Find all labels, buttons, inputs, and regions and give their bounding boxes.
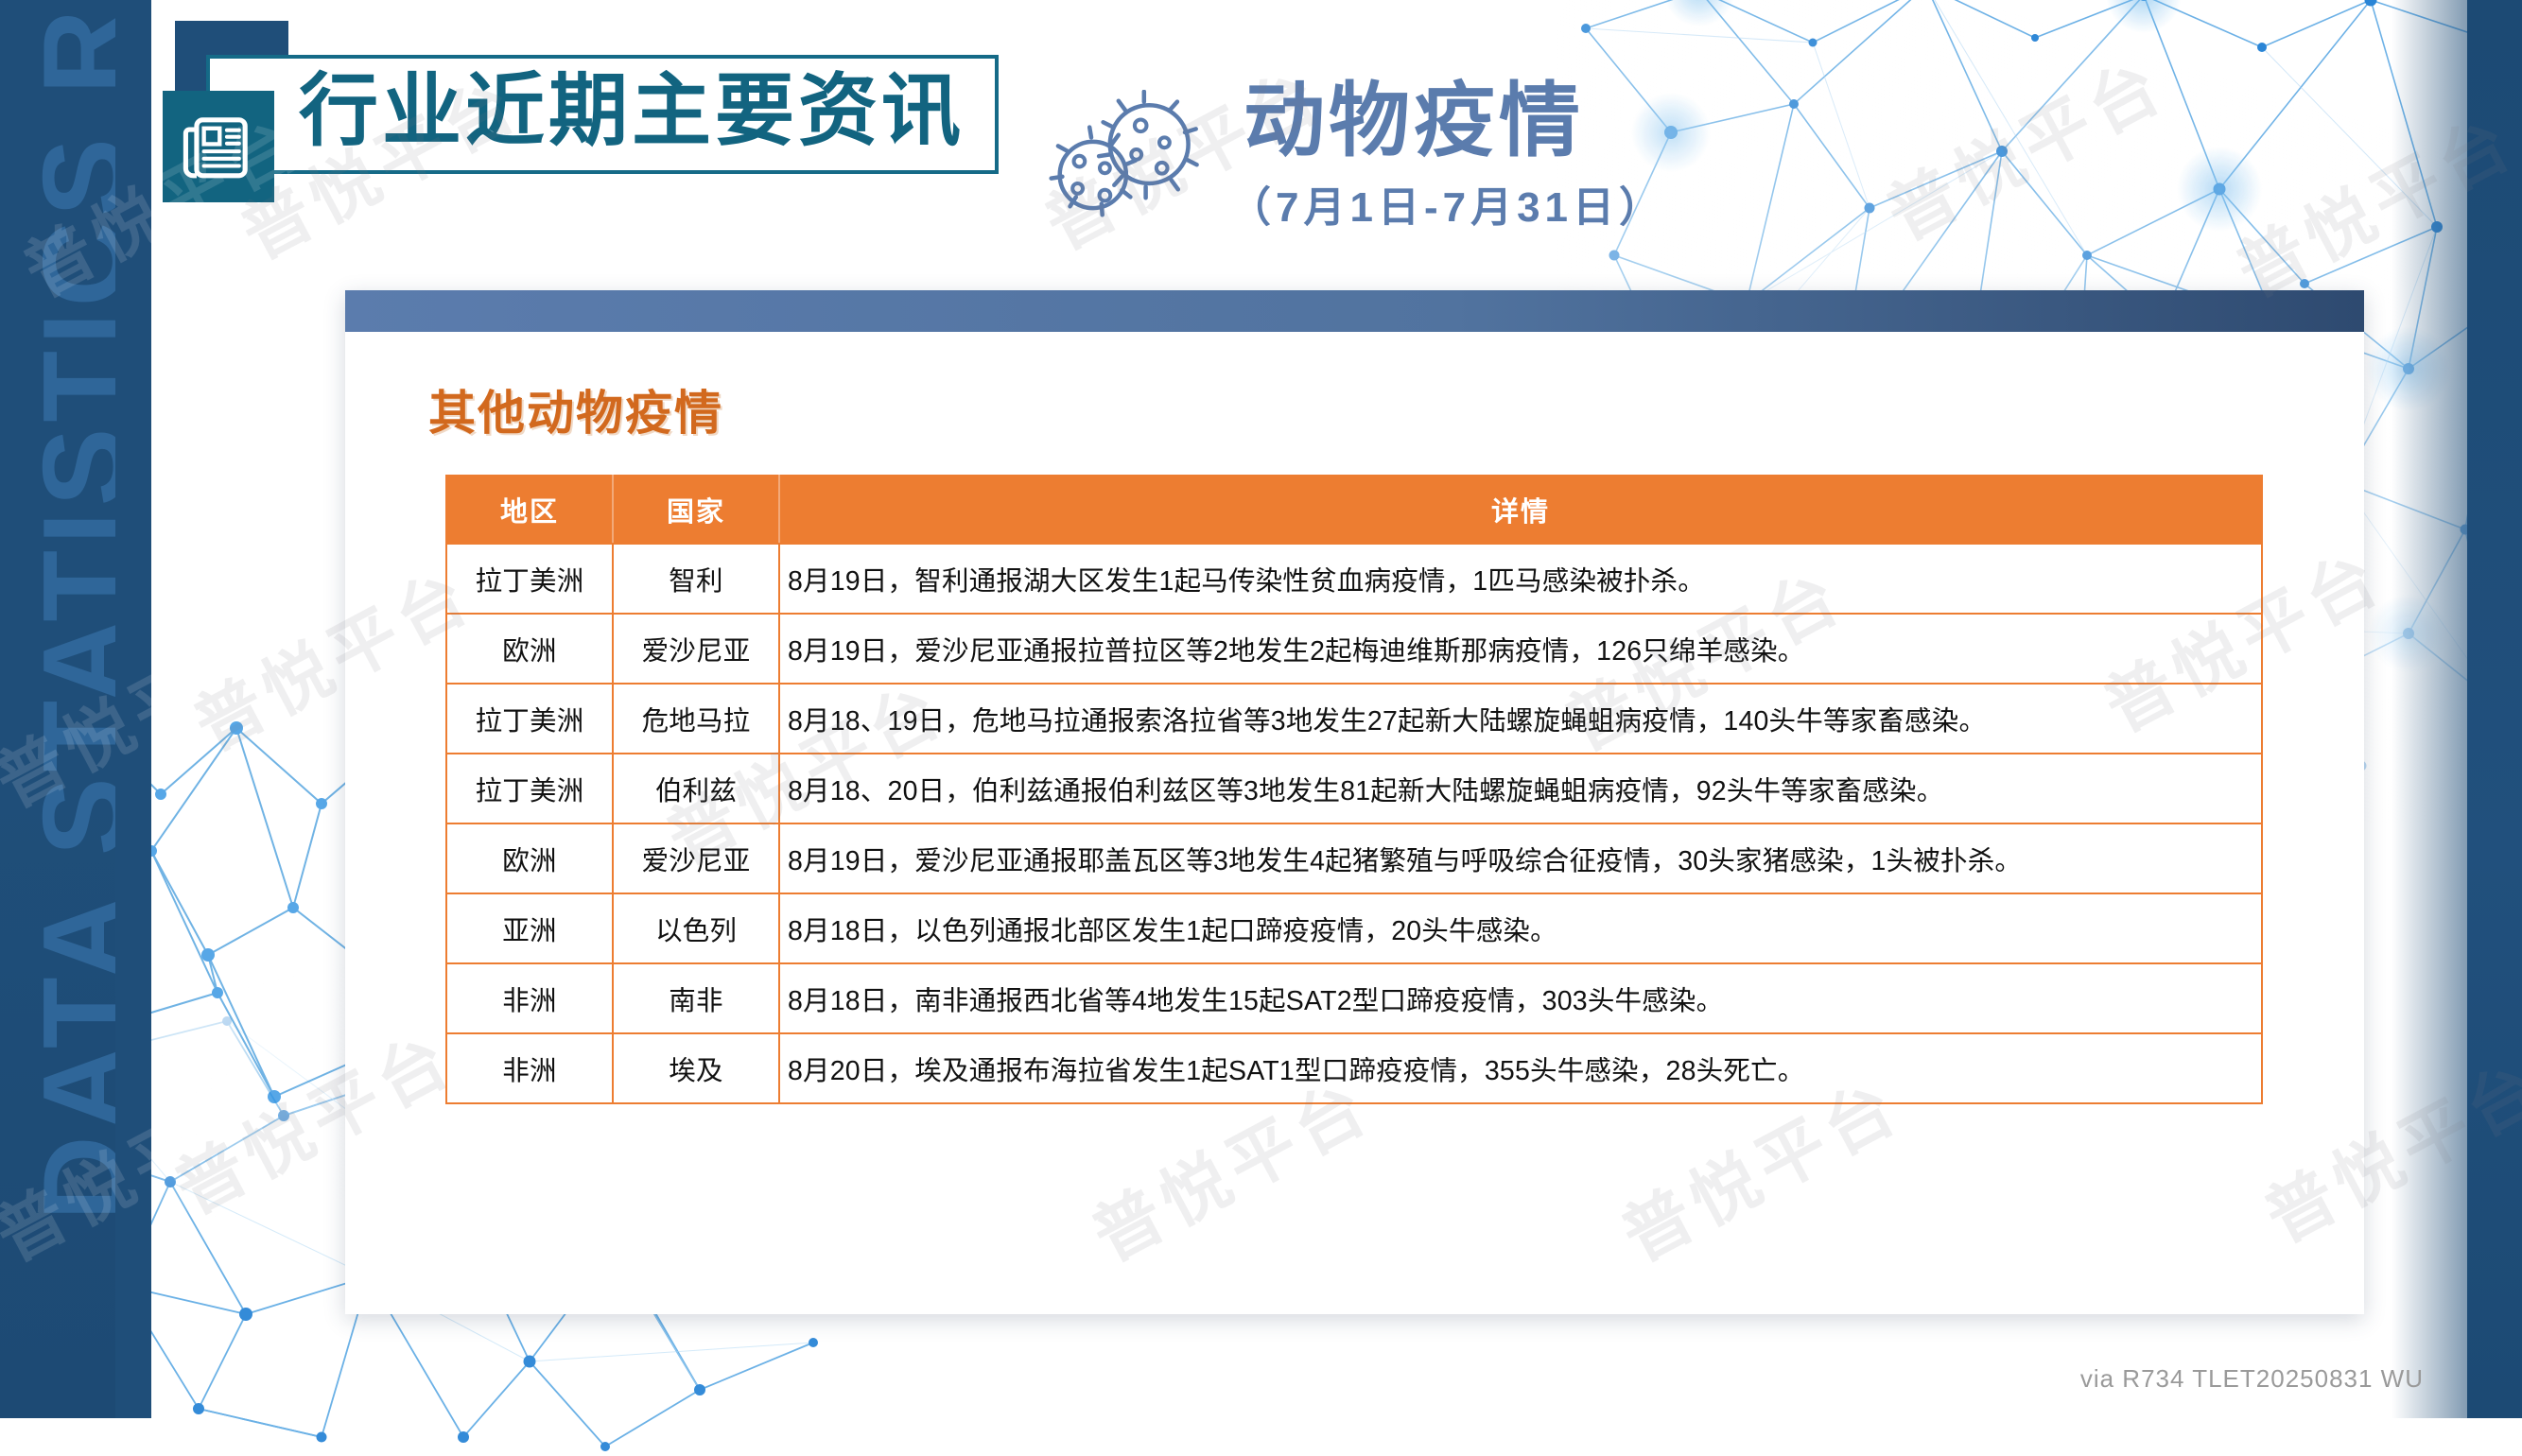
cell-region: 拉丁美洲: [446, 684, 613, 754]
cell-country: 伯利兹: [613, 754, 779, 823]
cell-region: 非洲: [446, 1033, 613, 1103]
table-row: 欧洲 爱沙尼亚 8月19日，爱沙尼亚通报拉普拉区等2地发生2起梅迪维斯那病疫情，…: [446, 614, 2262, 684]
right-strip-shade: [2392, 0, 2467, 1418]
cell-region: 拉丁美洲: [446, 544, 613, 614]
left-sidebar-rail: DATA STATISTICS REPORT: [0, 0, 115, 1418]
card-top-bar: [345, 290, 2364, 332]
table-header-row: 地区 国家 详情: [446, 476, 2262, 544]
cell-country: 爱沙尼亚: [613, 823, 779, 893]
page-title: 行业近期主要资讯: [299, 60, 965, 162]
rail-edge-block: [115, 0, 151, 1418]
table-row: 非洲 南非 8月18日，南非通报西北省等4地发生15起SAT2型口蹄疫疫情，30…: [446, 963, 2262, 1033]
newspaper-icon: [163, 91, 274, 202]
cell-country: 以色列: [613, 893, 779, 963]
date-range-label: （7月1日-7月31日）: [1229, 187, 1665, 229]
section-title: 其他动物疫情: [428, 375, 723, 443]
cell-country: 爱沙尼亚: [613, 614, 779, 684]
cell-country: 南非: [613, 963, 779, 1033]
column-header-detail: 详情: [779, 476, 2262, 544]
right-edge-strip: [2467, 0, 2522, 1418]
table-row: 亚洲 以色列 8月18日，以色列通报北部区发生1起口蹄疫疫情，20头牛感染。: [446, 893, 2262, 963]
table-row: 非洲 埃及 8月20日，埃及通报布海拉省发生1起SAT1型口蹄疫疫情，355头牛…: [446, 1033, 2262, 1103]
cell-detail: 8月19日，智利通报湖大区发生1起马传染性贫血病疫情，1匹马感染被扑杀。: [779, 544, 2262, 614]
cell-detail: 8月18、19日，危地马拉通报索洛拉省等3地发生27起新大陆螺旋蝇蛆病疫情，14…: [779, 684, 2262, 754]
cell-country: 埃及: [613, 1033, 779, 1103]
rail-vertical-title: DATA STATISTICS REPORT: [18, 0, 115, 1221]
cell-region: 非洲: [446, 963, 613, 1033]
table-row: 拉丁美洲 伯利兹 8月18、20日，伯利兹通报伯利兹区等3地发生81起新大陆螺旋…: [446, 754, 2262, 823]
cell-region: 欧洲: [446, 823, 613, 893]
column-header-country: 国家: [613, 476, 779, 544]
cell-country: 危地马拉: [613, 684, 779, 754]
footer-credit: via R734 TLET20250831 WU: [2080, 1364, 2424, 1394]
table-row: 拉丁美洲 危地马拉 8月18、19日，危地马拉通报索洛拉省等3地发生27起新大陆…: [446, 684, 2262, 754]
cell-detail: 8月19日，爱沙尼亚通报拉普拉区等2地发生2起梅迪维斯那病疫情，126只绵羊感染…: [779, 614, 2262, 684]
cell-region: 亚洲: [446, 893, 613, 963]
cell-region: 拉丁美洲: [446, 754, 613, 823]
table-row: 拉丁美洲 智利 8月19日，智利通报湖大区发生1起马传染性贫血病疫情，1匹马感染…: [446, 544, 2262, 614]
table-body: 拉丁美洲 智利 8月19日，智利通报湖大区发生1起马传染性贫血病疫情，1匹马感染…: [446, 544, 2262, 1103]
table-row: 欧洲 爱沙尼亚 8月19日，爱沙尼亚通报耶盖瓦区等3地发生4起猪繁殖与呼吸综合征…: [446, 823, 2262, 893]
cell-detail: 8月20日，埃及通报布海拉省发生1起SAT1型口蹄疫疫情，355头牛感染，28头…: [779, 1033, 2262, 1103]
cell-detail: 8月19日，爱沙尼亚通报耶盖瓦区等3地发生4起猪繁殖与呼吸综合征疫情，30头家猪…: [779, 823, 2262, 893]
cell-detail: 8月18日，以色列通报北部区发生1起口蹄疫疫情，20头牛感染。: [779, 893, 2262, 963]
cell-detail: 8月18、20日，伯利兹通报伯利兹区等3地发生81起新大陆螺旋蝇蛆病疫情，92头…: [779, 754, 2262, 823]
animal-epidemic-table: 地区 国家 详情 拉丁美洲 智利 8月19日，智利通报湖大区发生1起马传染性贫血…: [445, 475, 2263, 1104]
cell-country: 智利: [613, 544, 779, 614]
virus-icon: [1040, 90, 1210, 217]
watermark: 普悦平台: [1867, 29, 2181, 259]
column-header-region: 地区: [446, 476, 613, 544]
main-heading: 动物疫情: [1244, 80, 1584, 162]
content-card: 其他动物疫情 地区 国家 详情 拉丁美洲 智利 8月19日，智利通报湖大区发生1…: [345, 290, 2364, 1314]
cell-detail: 8月18日，南非通报西北省等4地发生15起SAT2型口蹄疫疫情，303头牛感染。: [779, 963, 2262, 1033]
cell-region: 欧洲: [446, 614, 613, 684]
